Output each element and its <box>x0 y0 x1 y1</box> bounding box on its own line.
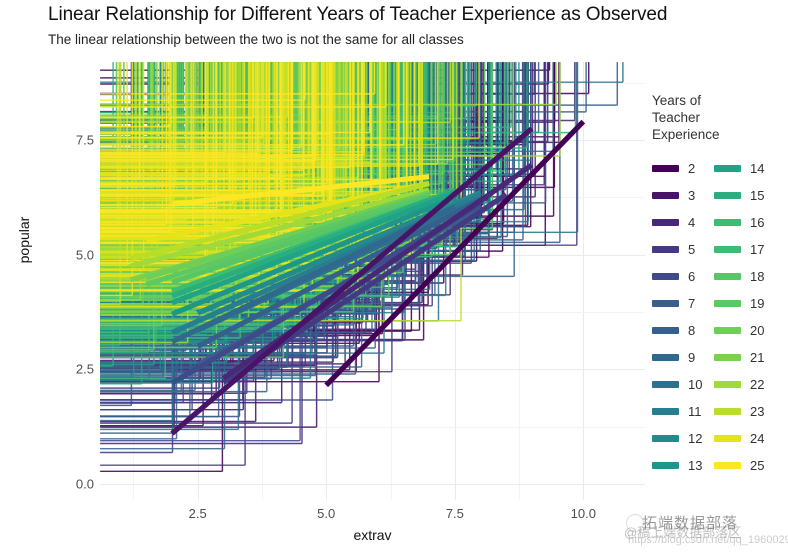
scatter-and-lines <box>100 62 645 500</box>
y-tick-label: 5.0 <box>42 247 94 262</box>
legend-item[interactable]: 6 <box>652 263 708 290</box>
legend-item-label: 19 <box>750 296 770 311</box>
legend-item-label: 16 <box>750 215 770 230</box>
legend-item[interactable]: 16 <box>714 209 770 236</box>
watermark-text: 拓端数据部落 <box>642 512 738 533</box>
legend-item[interactable]: 15 <box>714 182 770 209</box>
legend-swatch-icon <box>652 246 679 253</box>
legend-item-label: 13 <box>688 458 708 473</box>
legend-item-label: 5 <box>688 242 708 257</box>
legend-swatch-icon <box>714 354 741 361</box>
x-tick-label: 7.5 <box>425 506 485 521</box>
legend-item[interactable]: 20 <box>714 317 770 344</box>
legend-title-line: Years of <box>652 92 788 109</box>
legend-swatch-icon <box>652 462 679 469</box>
legend-column-2: 141516171819202122232425 <box>714 155 770 479</box>
legend-item-label: 21 <box>750 350 770 365</box>
legend-item-label: 12 <box>688 431 708 446</box>
legend-swatch-icon <box>652 408 679 415</box>
legend-item[interactable]: 8 <box>652 317 708 344</box>
legend-swatch-icon <box>652 300 679 307</box>
legend-swatch-icon <box>714 246 741 253</box>
legend-swatch-icon <box>714 300 741 307</box>
legend-item-label: 25 <box>750 458 770 473</box>
y-tick-label: 2.5 <box>42 362 94 377</box>
legend-swatch-icon <box>652 165 679 172</box>
watermark-url: https://blog.csdn.net/qq_19600291 <box>628 534 788 546</box>
legend-swatch-icon <box>652 273 679 280</box>
legend-swatch-icon <box>652 381 679 388</box>
legend-item-label: 11 <box>688 404 708 419</box>
x-tick-label: 2.5 <box>168 506 228 521</box>
legend-swatch-icon <box>652 435 679 442</box>
chart-subtitle: The linear relationship between the two … <box>48 32 464 47</box>
legend-item[interactable]: 24 <box>714 425 770 452</box>
plot-panel <box>100 62 645 500</box>
legend-swatch-icon <box>714 435 741 442</box>
legend-column-1: 2345678910111213 <box>652 155 708 479</box>
legend-swatch-icon <box>714 462 741 469</box>
x-axis-ticks: 2.55.07.510.0 <box>100 506 645 526</box>
data-layer <box>100 62 645 500</box>
legend-item-label: 2 <box>688 161 708 176</box>
legend-item[interactable]: 12 <box>652 425 708 452</box>
x-tick-label: 5.0 <box>296 506 356 521</box>
legend-item-label: 10 <box>688 377 708 392</box>
legend-item-label: 20 <box>750 323 770 338</box>
legend-title-line: Experience <box>652 126 788 143</box>
legend-item-label: 18 <box>750 269 770 284</box>
legend-item[interactable]: 4 <box>652 209 708 236</box>
legend-item[interactable]: 13 <box>652 452 708 479</box>
legend-item-label: 4 <box>688 215 708 230</box>
legend-item[interactable]: 3 <box>652 182 708 209</box>
legend-item-label: 15 <box>750 188 770 203</box>
legend-swatch-icon <box>714 408 741 415</box>
legend-swatch-icon <box>714 273 741 280</box>
legend: Years ofTeacherExperience 23456789101112… <box>652 92 788 479</box>
legend-swatch-icon <box>714 219 741 226</box>
legend-item[interactable]: 22 <box>714 371 770 398</box>
legend-swatch-icon <box>652 192 679 199</box>
watermark: @稿上端数据部落区 拓端数据部落 https://blog.csdn.net/q… <box>624 508 788 554</box>
x-tick-label: 10.0 <box>553 506 613 521</box>
legend-item[interactable]: 9 <box>652 344 708 371</box>
legend-title: Years ofTeacherExperience <box>652 92 788 143</box>
legend-swatch-icon <box>652 327 679 334</box>
legend-swatch-icon <box>714 381 741 388</box>
legend-item[interactable]: 14 <box>714 155 770 182</box>
legend-item-label: 9 <box>688 350 708 365</box>
y-axis-ticks: 0.02.55.07.5 <box>38 62 94 500</box>
legend-item[interactable]: 19 <box>714 290 770 317</box>
legend-item-label: 22 <box>750 377 770 392</box>
legend-item-label: 23 <box>750 404 770 419</box>
legend-item-label: 7 <box>688 296 708 311</box>
legend-item[interactable]: 2 <box>652 155 708 182</box>
legend-item-label: 17 <box>750 242 770 257</box>
y-tick-label: 0.0 <box>42 476 94 491</box>
legend-item-label: 6 <box>688 269 708 284</box>
legend-item[interactable]: 5 <box>652 236 708 263</box>
legend-item[interactable]: 21 <box>714 344 770 371</box>
legend-swatch-icon <box>652 354 679 361</box>
legend-item-label: 3 <box>688 188 708 203</box>
legend-swatch-icon <box>714 192 741 199</box>
legend-title-line: Teacher <box>652 109 788 126</box>
legend-item-label: 24 <box>750 431 770 446</box>
legend-item[interactable]: 18 <box>714 263 770 290</box>
legend-item[interactable]: 17 <box>714 236 770 263</box>
legend-item-label: 14 <box>750 161 770 176</box>
legend-item[interactable]: 23 <box>714 398 770 425</box>
x-axis-title: extrav <box>100 527 645 543</box>
legend-swatch-icon <box>714 165 741 172</box>
legend-swatch-icon <box>714 327 741 334</box>
legend-item[interactable]: 25 <box>714 452 770 479</box>
y-axis-title: popular <box>16 190 32 290</box>
page-title: Linear Relationship for Different Years … <box>48 4 667 26</box>
legend-item[interactable]: 10 <box>652 371 708 398</box>
y-tick-label: 7.5 <box>42 133 94 148</box>
legend-item[interactable]: 7 <box>652 290 708 317</box>
legend-swatch-icon <box>652 219 679 226</box>
legend-item-label: 8 <box>688 323 708 338</box>
legend-item[interactable]: 11 <box>652 398 708 425</box>
